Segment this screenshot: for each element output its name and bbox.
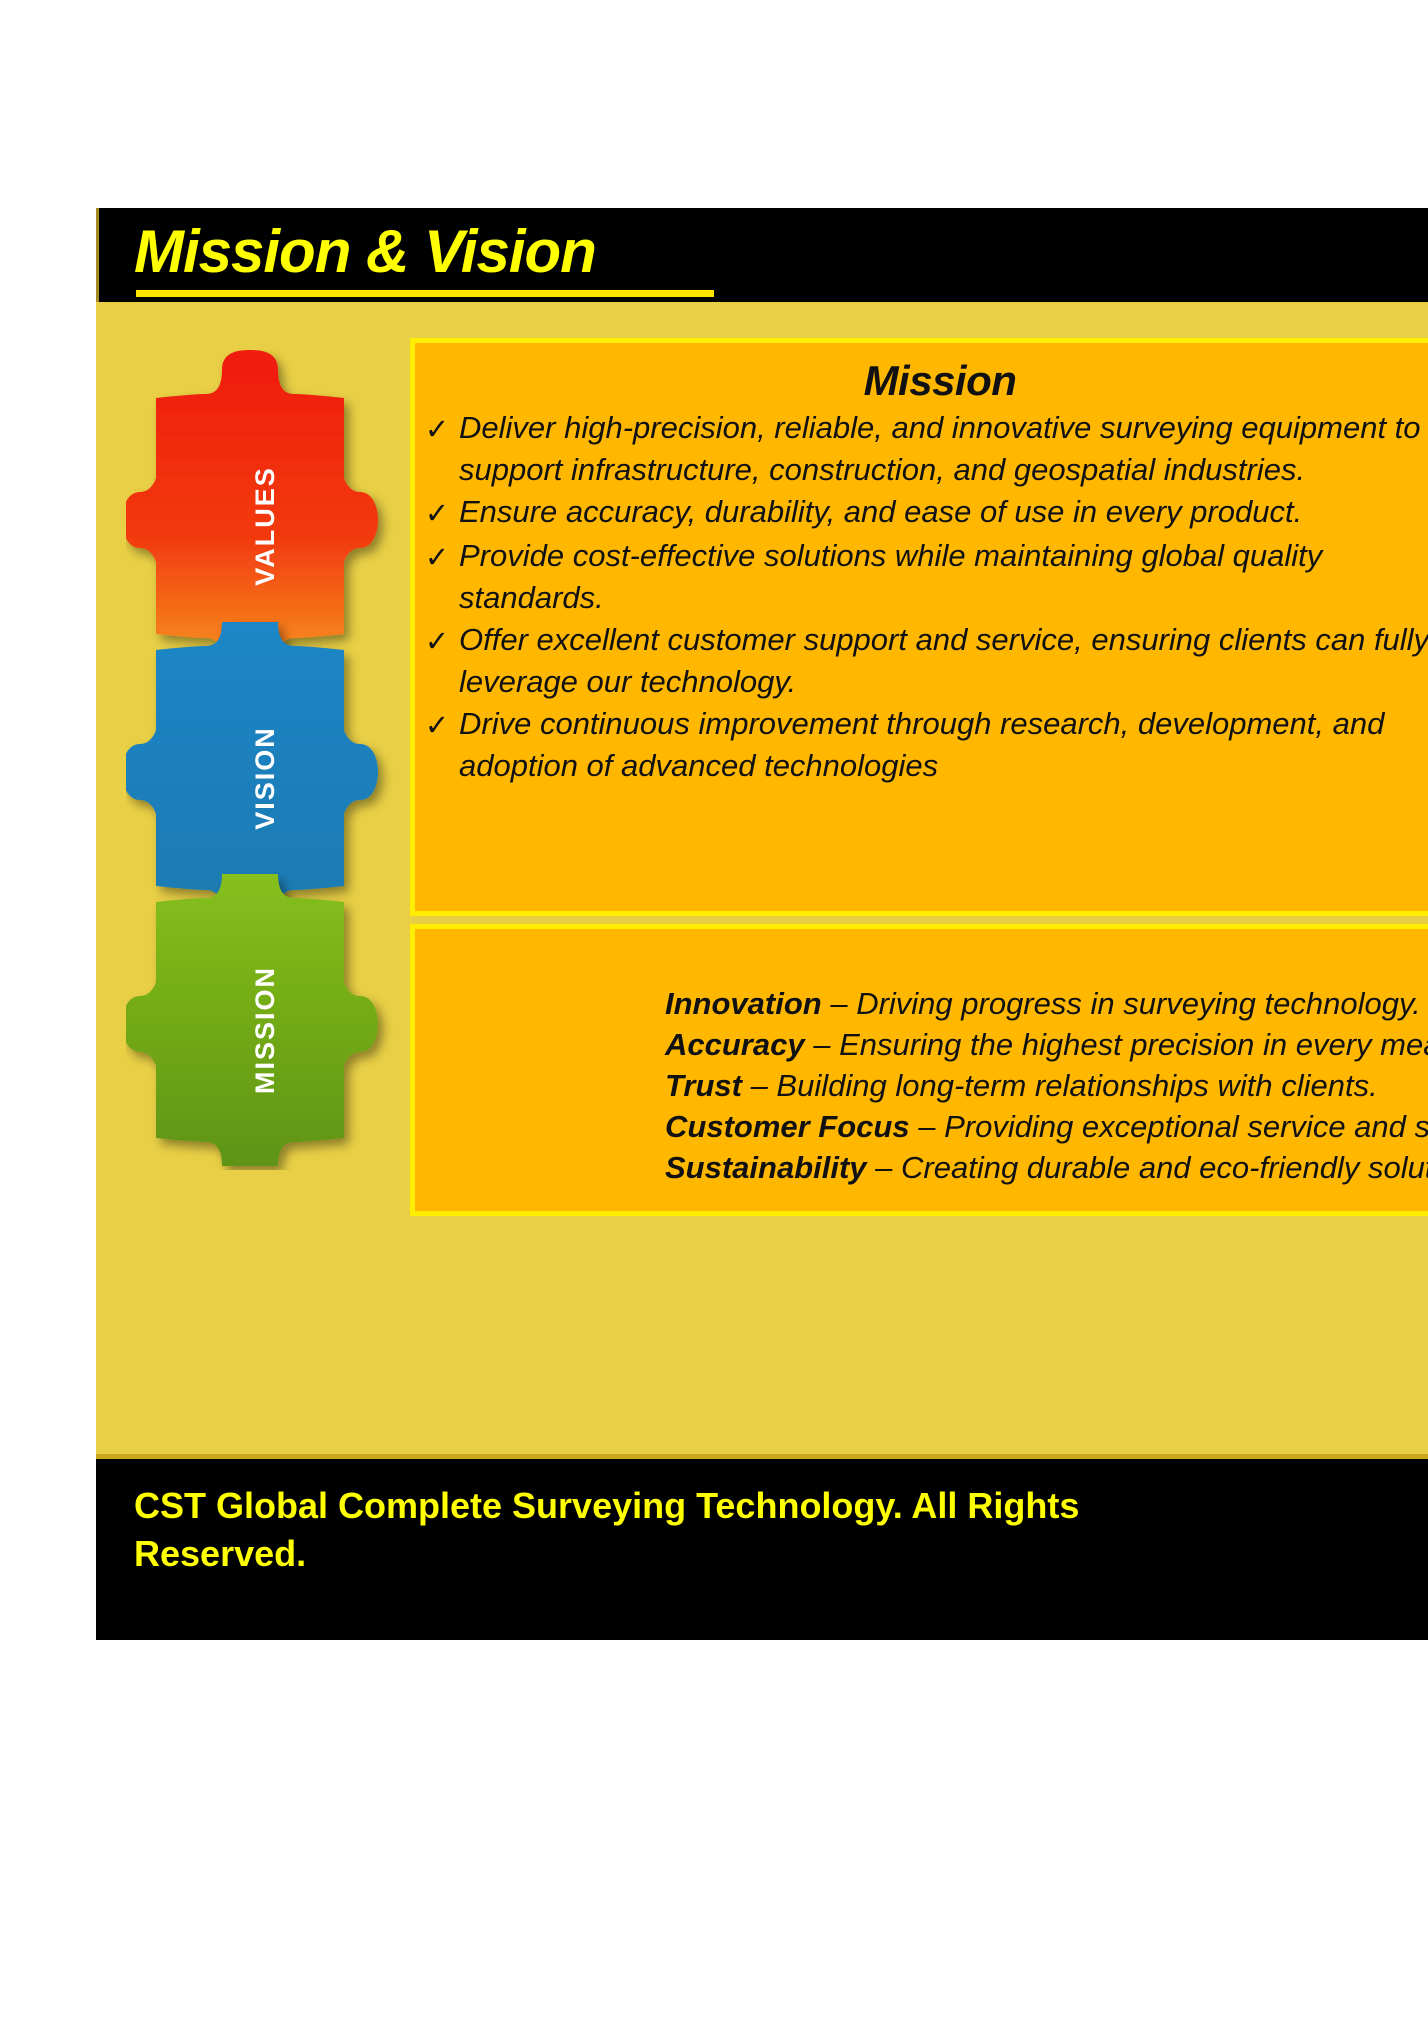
list-item: Trust – Building long-term relationships… <box>665 1065 1428 1106</box>
mission-bullet-text: Offer excellent customer support and ser… <box>459 619 1428 703</box>
value-term: Accuracy <box>665 1027 805 1062</box>
slide: Mission & Vision <box>96 208 1428 1640</box>
value-description: Ensuring the highest precision in every … <box>839 1027 1428 1062</box>
footer-text: CST Global Complete Surveying Technology… <box>134 1482 1094 1578</box>
value-dash: – <box>805 1027 839 1062</box>
puzzle-label-vision: VISION <box>250 726 280 830</box>
page-title: Mission & Vision <box>134 214 596 290</box>
list-item: ✓ Deliver high-precision, reliable, and … <box>415 407 1428 491</box>
check-icon: ✓ <box>415 703 459 747</box>
check-icon: ✓ <box>415 619 459 663</box>
list-item: ✓ Ensure accuracy, durability, and ease … <box>415 491 1428 535</box>
value-term: Trust <box>665 1068 742 1103</box>
value-description: Creating durable and eco-friendly soluti… <box>901 1150 1428 1185</box>
value-description: Building long-term relationships with cl… <box>776 1068 1377 1103</box>
check-icon: ✓ <box>415 535 459 579</box>
value-term: Sustainability <box>665 1150 867 1185</box>
mission-bullet-text: Deliver high-precision, reliable, and in… <box>459 407 1428 491</box>
list-item: Accuracy – Ensuring the highest precisio… <box>665 1024 1428 1065</box>
puzzle-graphic: VALUES VISION MISSION <box>126 350 396 1170</box>
mission-heading: Mission <box>415 357 1428 405</box>
footer-bar: CST Global Complete Surveying Technology… <box>96 1454 1428 1640</box>
value-term: Innovation <box>665 986 822 1021</box>
puzzle-piece-vision: VISION <box>126 622 378 914</box>
list-item: ✓ Offer excellent customer support and s… <box>415 619 1428 703</box>
value-dash: – <box>742 1068 776 1103</box>
mission-bullet-text: Drive continuous improvement through res… <box>459 703 1428 787</box>
value-term: Customer Focus <box>665 1109 910 1144</box>
value-dash: – <box>822 986 856 1021</box>
values-box: Innovation – Driving progress in surveyi… <box>410 924 1428 1216</box>
header-left-edge <box>96 208 99 302</box>
puzzle-piece-mission: MISSION <box>126 874 378 1166</box>
value-dash: – <box>867 1150 901 1185</box>
value-description: Providing exceptional service and suppor… <box>944 1109 1428 1144</box>
list-item: Customer Focus – Providing exceptional s… <box>665 1106 1428 1147</box>
puzzle-label-mission: MISSION <box>250 966 280 1094</box>
list-item: ✓ Drive continuous improvement through r… <box>415 703 1428 787</box>
list-item: ✓ Provide cost-effective solutions while… <box>415 535 1428 619</box>
values-list: Innovation – Driving progress in surveyi… <box>415 929 1428 1188</box>
value-description: Driving progress in surveying technology… <box>856 986 1421 1021</box>
title-underline <box>136 290 714 297</box>
list-item: Sustainability – Creating durable and ec… <box>665 1147 1428 1188</box>
mission-box: Mission ✓ Deliver high-precision, reliab… <box>410 338 1428 916</box>
mission-bullet-list: ✓ Deliver high-precision, reliable, and … <box>415 407 1428 787</box>
mission-bullet-text: Provide cost-effective solutions while m… <box>459 535 1428 619</box>
puzzle-label-values: VALUES <box>250 466 280 586</box>
check-icon: ✓ <box>415 491 459 535</box>
mission-bullet-text: Ensure accuracy, durability, and ease of… <box>459 491 1428 533</box>
footer-top-rule <box>96 1454 1428 1459</box>
check-icon: ✓ <box>415 407 459 451</box>
value-dash: – <box>910 1109 944 1144</box>
puzzle-piece-values: VALUES <box>126 350 378 662</box>
list-item: Innovation – Driving progress in surveyi… <box>665 983 1428 1024</box>
